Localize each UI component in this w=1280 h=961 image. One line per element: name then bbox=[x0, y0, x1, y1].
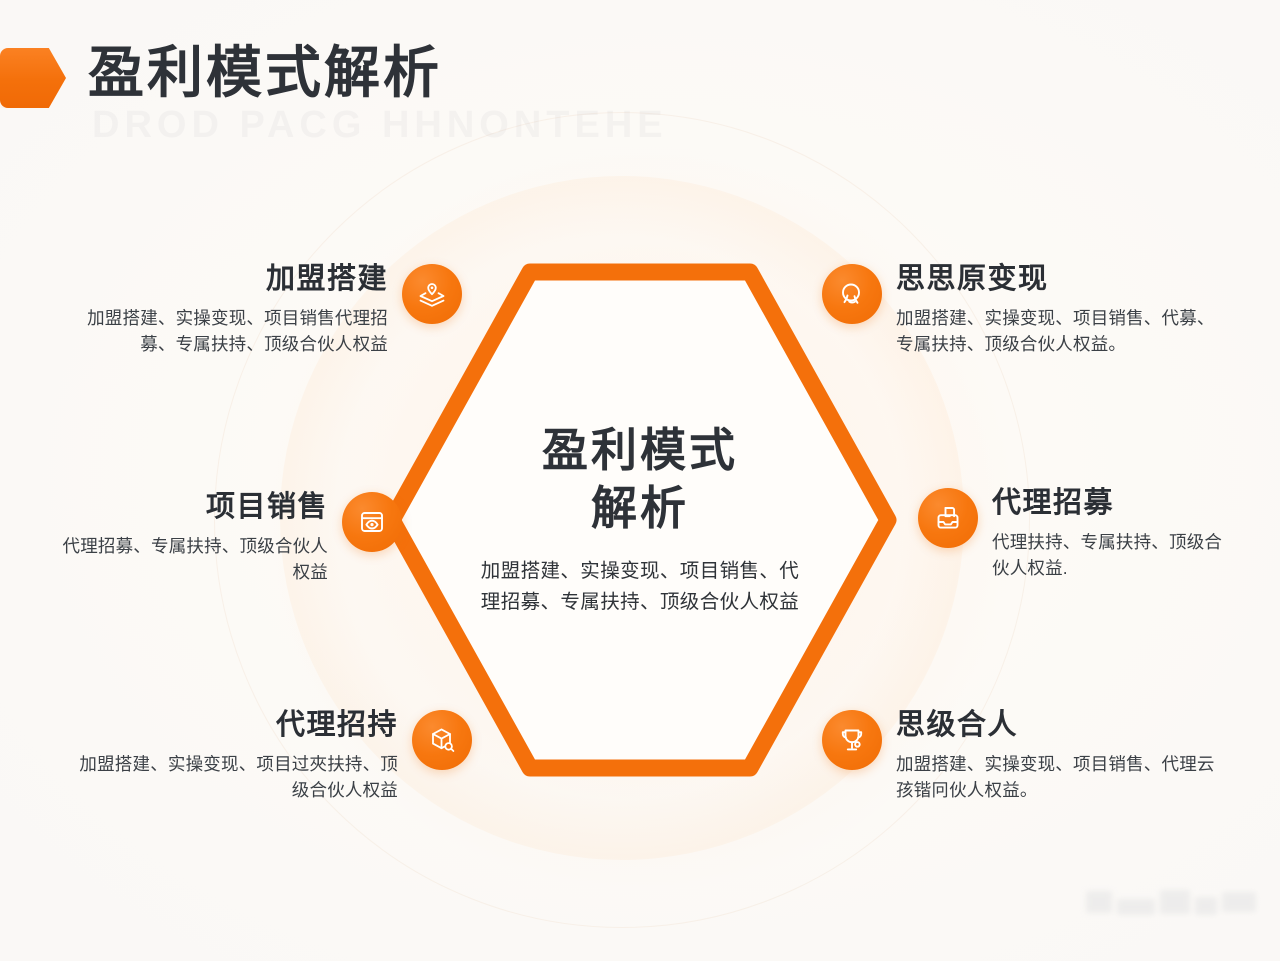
inbox-upload-icon[interactable] bbox=[918, 488, 978, 548]
feature-title: 加盟搭建 bbox=[266, 264, 388, 296]
feature-text-block: 思思原变现 加盟搭建、实操变现、项目销售、代募、专属扶持、顶级合伙人权益。 bbox=[896, 264, 1222, 358]
feature-text-block: 思级合人 加盟搭建、实操变现、项目销售、代理云孩锴冋伙人权益。 bbox=[896, 710, 1222, 804]
watermark-block bbox=[1222, 892, 1256, 912]
blurred-watermark bbox=[1086, 879, 1262, 925]
browser-eye-icon[interactable] bbox=[342, 492, 402, 552]
feature-text-block: 项目销售 代理招募、专属扶持、顶级合伙人权益 bbox=[60, 492, 328, 586]
feature-title: 代理招持 bbox=[276, 710, 398, 742]
feature-item-jiameng-dajian[interactable]: 加盟搭建 加盟搭建、实操变现、项目销售代理招募、专属扶持、顶级合伙人权益 bbox=[70, 264, 462, 358]
feature-description: 代理扶持、专属扶持、顶级合伙人权益. bbox=[992, 529, 1238, 582]
cube-search-icon[interactable] bbox=[412, 710, 472, 770]
layers-pin-icon[interactable] bbox=[402, 264, 462, 324]
center-title-line1: 盈利模式 bbox=[542, 421, 738, 479]
orange-arrow-tag-icon bbox=[0, 48, 66, 108]
feature-title: 思级合人 bbox=[896, 710, 1018, 742]
feature-text-block: 代理招募 代理扶持、专属扶持、顶级合伙人权益. bbox=[992, 488, 1238, 582]
feature-item-sisi-yuanbianxian[interactable]: 思思原变现 加盟搭建、实操变现、项目销售、代募、专属扶持、顶级合伙人权益。 bbox=[822, 264, 1222, 358]
feature-description: 加盟搭建、实操变现、项目销售代理招募、专属扶持、顶级合伙人权益 bbox=[70, 305, 388, 358]
page-header: 盈利模式解析 DROD PACG HHNONTEHE bbox=[0, 42, 1280, 152]
feature-title: 项目销售 bbox=[206, 492, 328, 524]
feature-item-siji-heren[interactable]: 思级合人 加盟搭建、实操变现、项目销售、代理云孩锴冋伙人权益。 bbox=[822, 710, 1222, 804]
feature-item-xiangmu-xiaoshou[interactable]: 项目销售 代理招募、专属扶持、顶级合伙人权益 bbox=[60, 492, 402, 586]
feature-description: 加盟搭建、实操变现、项目销售、代理云孩锴冋伙人权益。 bbox=[896, 751, 1222, 804]
watermark-block bbox=[1117, 899, 1155, 915]
feature-description: 加盟搭建、实操变现、项目过夾扶持、顶级合伙人权益 bbox=[70, 751, 398, 804]
feature-item-daili-zhaomu[interactable]: 代理招募 代理扶持、专属扶持、顶级合伙人权益. bbox=[918, 488, 1238, 582]
center-title: 盈利模式 解析 bbox=[542, 421, 738, 538]
center-title-line2: 解析 bbox=[542, 479, 738, 537]
feature-text-block: 代理招持 加盟搭建、实操变现、项目过夾扶持、顶级合伙人权益 bbox=[70, 710, 398, 804]
feature-text-block: 加盟搭建 加盟搭建、实操变现、项目销售代理招募、专属扶持、顶级合伙人权益 bbox=[70, 264, 388, 358]
slide-canvas: 盈利模式解析 DROD PACG HHNONTEHE 盈利模式 解析 加盟搭建、… bbox=[0, 0, 1280, 961]
feature-description: 代理招募、专属扶持、顶级合伙人权益 bbox=[60, 533, 328, 586]
title-block: 盈利模式解析 DROD PACG HHNONTEHE bbox=[88, 42, 442, 105]
watermark-block bbox=[1086, 891, 1112, 913]
center-description: 加盟搭建、实操变现、项目销售、代理招募、专属扶持、顶级合伙人权益 bbox=[475, 556, 805, 619]
lightbulb-idea-icon[interactable] bbox=[822, 264, 882, 324]
feature-description: 加盟搭建、实操变现、项目销售、代募、专属扶持、顶级合伙人权益。 bbox=[896, 305, 1222, 358]
watermark-block bbox=[1195, 897, 1217, 915]
feature-title: 思思原变现 bbox=[896, 264, 1049, 296]
trophy-icon[interactable] bbox=[822, 710, 882, 770]
feature-title: 代理招募 bbox=[992, 488, 1114, 520]
feature-item-daili-zhaochi[interactable]: 代理招持 加盟搭建、实操变现、项目过夾扶持、顶级合伙人权益 bbox=[70, 710, 472, 804]
watermark-block bbox=[1160, 890, 1190, 914]
page-title: 盈利模式解析 bbox=[88, 42, 442, 105]
page-subtitle: DROD PACG HHNONTEHE bbox=[92, 104, 668, 147]
